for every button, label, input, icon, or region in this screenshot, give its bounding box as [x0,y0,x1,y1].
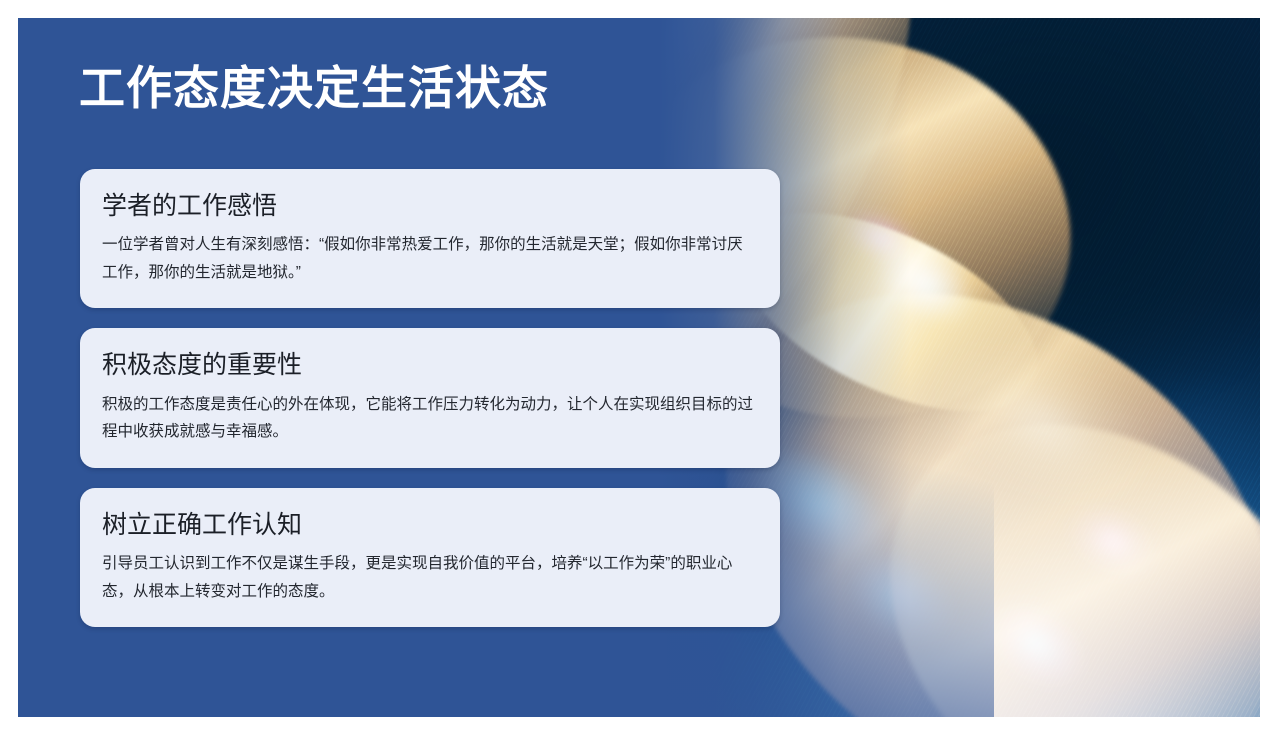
slide-canvas: 工作态度决定生活状态 学者的工作感悟 一位学者曾对人生有深刻感悟：“假如你非常热… [18,18,1260,717]
card-body: 引导员工认识到工作不仅是谋生手段，更是实现自我价值的平台，培养“以工作为荣”的职… [102,550,756,605]
content-card: 学者的工作感悟 一位学者曾对人生有深刻感悟：“假如你非常热爱工作，那你的生活就是… [80,169,780,308]
card-title: 积极态度的重要性 [102,350,756,381]
card-title: 树立正确工作认知 [102,510,756,541]
content-card: 积极态度的重要性 积极的工作态度是责任心的外在体现，它能将工作压力转化为动力，让… [80,328,780,467]
slide-title: 工作态度决定生活状态 [79,62,549,115]
card-list: 学者的工作感悟 一位学者曾对人生有深刻感悟：“假如你非常热爱工作，那你的生活就是… [80,169,780,627]
card-body: 一位学者曾对人生有深刻感悟：“假如你非常热爱工作，那你的生活就是天堂；假如你非常… [102,231,756,286]
content-card: 树立正确工作认知 引导员工认识到工作不仅是谋生手段，更是实现自我价值的平台，培养… [80,488,780,627]
card-body: 积极的工作态度是责任心的外在体现，它能将工作压力转化为动力，让个人在实现组织目标… [102,391,756,446]
card-title: 学者的工作感悟 [102,191,756,222]
